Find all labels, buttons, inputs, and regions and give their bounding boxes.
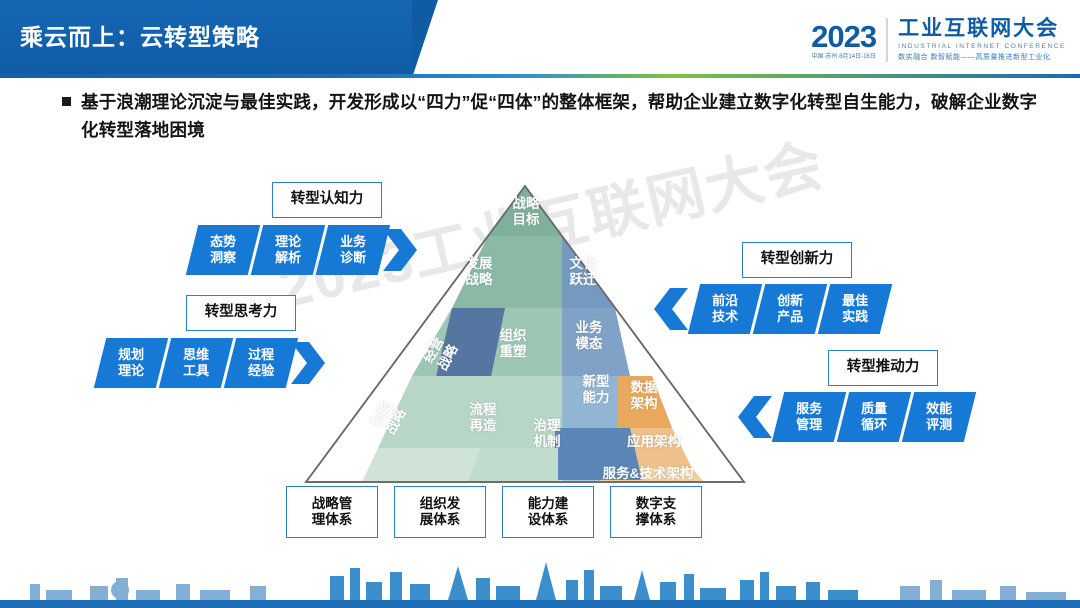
callout-innovation: 转型创新力: [742, 242, 852, 278]
chip-cognition-2: 业务 诊断: [316, 225, 390, 275]
pyramid-label-service-tech-architecture: 服务&技术架构: [586, 466, 710, 482]
slide-header: 乘云而上：云转型策略 2023 中国·苏州 8月14日-16日 工业互联网大会 …: [0, 0, 1080, 78]
logo-text-block: 工业互联网大会 INDUSTRIAL INTERNET CONFERENCE 数…: [898, 18, 1066, 61]
chip-innovation-2-label: 最佳 实践: [842, 293, 868, 324]
slide: 乘云而上：云转型策略 2023 中国·苏州 8月14日-16日 工业互联网大会 …: [0, 0, 1080, 608]
bottom-box-1: 组织发 展体系: [394, 486, 486, 538]
chip-drive-0: 服务 管理: [772, 392, 846, 442]
chip-drive-1: 质量 循环: [837, 392, 911, 442]
pyramid-label-governance: 治理 机制: [514, 418, 580, 450]
chip-drive-1-label: 质量 循环: [861, 401, 887, 432]
arrow-thinking-icon: [291, 336, 327, 390]
chip-thinking-1-label: 思维 工具: [183, 347, 209, 378]
chip-cognition-1-label: 理论 解析: [275, 234, 301, 265]
chip-cognition-0-label: 态势 洞察: [210, 234, 236, 265]
pyramid-label-app-architecture: 应用架构: [616, 434, 692, 450]
chip-group-drive: 服务 管理 质量 循环 效能 评测: [778, 392, 973, 442]
chip-drive-0-label: 服务 管理: [796, 401, 822, 432]
chip-innovation-0-label: 前沿 技术: [712, 293, 738, 324]
chip-cognition-1: 理论 解析: [251, 225, 325, 275]
logo-divider: [886, 18, 888, 62]
header-accent-rule: [0, 74, 1080, 78]
bullet-square-icon: [62, 97, 71, 106]
pyramid-label-culture-leap: 文化 跃迁: [552, 256, 614, 288]
chip-thinking-2: 过程 经验: [224, 338, 298, 388]
chip-group-innovation: 前沿 技术 创新 产品 最佳 实践: [694, 284, 889, 334]
page-title: 乘云而上：云转型策略: [20, 18, 260, 52]
conference-logo: 2023 中国·苏州 8月14日-16日 工业互联网大会 INDUSTRIAL …: [811, 12, 1066, 68]
pyramid-label-business-modal: 业务 模态: [558, 320, 620, 352]
chip-innovation-1-label: 创新 产品: [777, 293, 803, 324]
bullet-paragraph: 基于浪潮理论沉淀与最佳实践，开发形成以“四力”促“四体”的整体框架，帮助企业建立…: [62, 88, 1052, 145]
chip-innovation-1: 创新 产品: [753, 284, 827, 334]
arrow-cognition-icon: [383, 223, 419, 277]
arrow-innovation-icon: [652, 282, 688, 336]
arrow-drive-icon: [736, 390, 772, 444]
logo-year-block: 2023 中国·苏州 8月14日-16日: [811, 21, 876, 60]
pyramid-label-development-strategy: 发展 战略: [448, 256, 510, 288]
logo-name-en: INDUSTRIAL INTERNET CONFERENCE: [898, 43, 1066, 50]
skyline-graphic-icon: [0, 556, 1080, 608]
chip-drive-2-label: 效能 评测: [926, 401, 952, 432]
callout-cognition: 转型认知力: [272, 182, 382, 218]
chip-cognition-0: 态势 洞察: [186, 225, 260, 275]
logo-year-sub: 中国·苏州 8月14日-16日: [811, 54, 875, 60]
bullet-text: 基于浪潮理论沉淀与最佳实践，开发形成以“四力”促“四体”的整体框架，帮助企业建立…: [81, 88, 1052, 145]
pyramid-label-org-reshape: 组织 重塑: [482, 328, 544, 360]
pyramid-label-strategy-goal: 战略 目标: [496, 196, 556, 228]
chip-group-cognition: 态势 洞察 理论 解析 业务 诊断: [192, 225, 387, 275]
logo-year: 2023: [811, 21, 876, 52]
chip-thinking-2-label: 过程 经验: [248, 347, 274, 378]
chip-thinking-0: 规划 理论: [94, 338, 168, 388]
chip-innovation-0: 前沿 技术: [688, 284, 762, 334]
chip-thinking-0-label: 规划 理论: [118, 347, 144, 378]
pyramid-label-data-architecture: 数据 架构: [616, 380, 672, 412]
logo-name-cn: 工业互联网大会: [898, 18, 1066, 40]
slide-footer: [0, 556, 1080, 608]
chip-innovation-2: 最佳 实践: [818, 284, 892, 334]
logo-slogan: 数实融合 数智赋能——高质量推进新型工业化: [898, 52, 1066, 62]
callout-drive: 转型推动力: [828, 350, 938, 386]
bottom-box-3: 数字支 撑体系: [610, 486, 702, 538]
bottom-box-2: 能力建 设体系: [502, 486, 594, 538]
chip-thinking-1: 思维 工具: [159, 338, 233, 388]
chip-cognition-2-label: 业务 诊断: [340, 234, 366, 265]
chip-group-thinking: 规划 理论 思维 工具 过程 经验: [100, 338, 295, 388]
pyramid-label-process-rebuild: 流程 再造: [452, 402, 514, 434]
chip-drive-2: 效能 评测: [902, 392, 976, 442]
diagram-area: 2023工业互联网大会: [0, 160, 1080, 560]
bottom-box-0: 战略管 理体系: [286, 486, 378, 538]
callout-thinking: 转型思考力: [186, 295, 296, 331]
